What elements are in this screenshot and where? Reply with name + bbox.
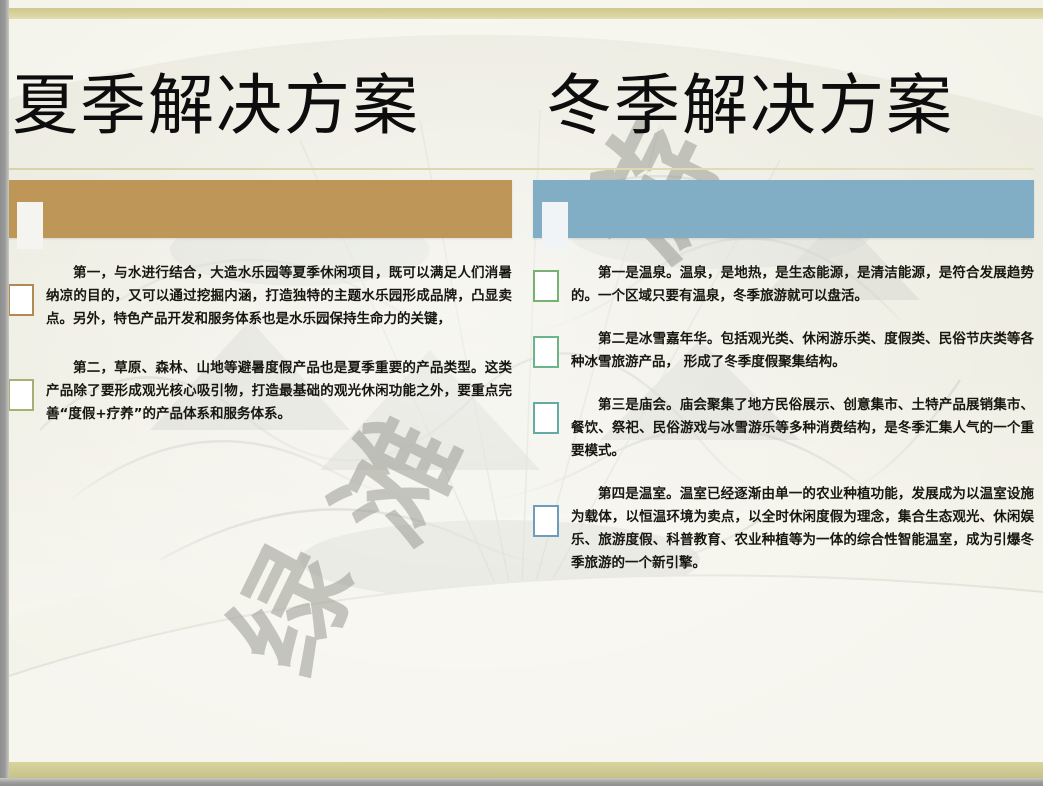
list-item[interactable]: 第四是温室。温室已经逐渐由单一的农业种植功能，发展成为以温室设施为载体，以恒温环… xyxy=(533,483,1034,575)
header-bar-winter xyxy=(533,180,1034,238)
list-item-text: 第四是温室。温室已经逐渐由单一的农业种植功能，发展成为以温室设施为载体，以恒温环… xyxy=(571,483,1034,575)
window-gutter-bottom xyxy=(0,778,1043,786)
list-item-text: 第二，草原、森林、山地等避暑度假产品也是夏季重要的产品类型。这类产品除了要形成观… xyxy=(46,357,512,426)
page-title-winter: 冬季解决方案 xyxy=(546,52,954,148)
page-title-summer: 夏季解决方案 xyxy=(12,52,420,148)
list-item[interactable]: 第一是温泉。温泉，是地热，是生态能源，是清洁能源，是符合发展趋势的。一个区域只要… xyxy=(533,262,1034,308)
list-item[interactable]: 第二是冰雪嘉年华。包括观光类、休闲游乐类、度假类、民俗节庆类等各种冰雪旅游产品，… xyxy=(533,328,1034,374)
bullet-marker-icon xyxy=(533,505,559,537)
header-bar-summer xyxy=(8,180,512,238)
title-divider-rule xyxy=(0,168,1034,170)
presentation-slide: 游 滩 绿 夏季解决方案 冬季解决方案 第一，与水进行结合，大造水乐园等夏季休闲… xyxy=(0,0,1043,786)
bullet-marker-icon xyxy=(8,284,34,316)
list-item-text: 第一是温泉。温泉，是地热，是生态能源，是清洁能源，是符合发展趋势的。一个区域只要… xyxy=(571,262,1034,308)
list-item-text: 第三是庙会。庙会聚集了地方民俗展示、创意集市、土特产品展销集市、餐饮、祭祀、民俗… xyxy=(571,394,1034,463)
header-chip-winter xyxy=(542,202,568,249)
bullet-marker-icon xyxy=(8,379,34,411)
list-item-text: 第二是冰雪嘉年华。包括观光类、休闲游乐类、度假类、民俗节庆类等各种冰雪旅游产品，… xyxy=(571,328,1034,374)
titles-row: 夏季解决方案 冬季解决方案 xyxy=(0,52,1043,162)
list-item-text: 第一，与水进行结合，大造水乐园等夏季休闲项目，既可以满足人们消暑纳凉的目的，又可… xyxy=(46,262,512,331)
list-item[interactable]: 第二，草原、森林、山地等避暑度假产品也是夏季重要的产品类型。这类产品除了要形成观… xyxy=(8,357,512,426)
list-item[interactable]: 第一，与水进行结合，大造水乐园等夏季休闲项目，既可以满足人们消暑纳凉的目的，又可… xyxy=(8,262,512,331)
content-column-winter: 第一是温泉。温泉，是地热，是生态能源，是清洁能源，是符合发展趋势的。一个区域只要… xyxy=(533,262,1034,595)
top-accent-band xyxy=(0,8,1043,19)
bottom-accent-band xyxy=(0,762,1043,778)
bullet-marker-icon xyxy=(533,336,559,368)
watermark-char-3: 绿 xyxy=(181,515,386,696)
window-gutter-left xyxy=(0,0,9,786)
bullet-marker-icon xyxy=(533,270,559,302)
bullet-marker-icon xyxy=(533,402,559,434)
content-column-summer: 第一，与水进行结合，大造水乐园等夏季休闲项目，既可以满足人们消暑纳凉的目的，又可… xyxy=(8,262,512,452)
list-item[interactable]: 第三是庙会。庙会聚集了地方民俗展示、创意集市、土特产品展销集市、餐饮、祭祀、民俗… xyxy=(533,394,1034,463)
header-chip-summer xyxy=(17,202,43,249)
